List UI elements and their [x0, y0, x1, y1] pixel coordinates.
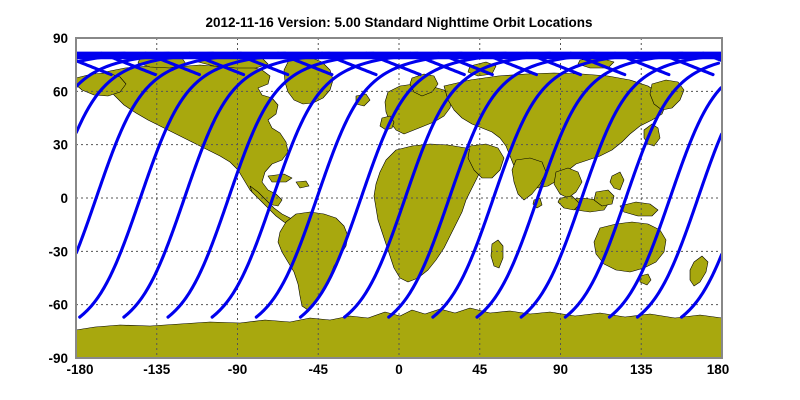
- chart-title: 2012-11-16 Version: 5.00 Standard Nightt…: [205, 15, 592, 30]
- y-tick-label: 0: [60, 191, 68, 206]
- y-tick-label: 60: [53, 84, 68, 99]
- x-tick-label: -180: [66, 362, 93, 377]
- x-tick-label: -45: [308, 362, 328, 377]
- x-axis-ticks: -180 -135 -90 -45 0 45 90 135 180: [66, 362, 729, 377]
- x-tick-label: -135: [143, 362, 171, 377]
- x-tick-label: 135: [630, 362, 653, 377]
- y-tick-label: 30: [53, 138, 68, 153]
- plot-area: [76, 38, 722, 358]
- orbit-location-map-figure: 2012-11-16 Version: 5.00 Standard Nightt…: [0, 0, 800, 400]
- x-tick-label: 90: [553, 362, 568, 377]
- y-tick-label: 90: [53, 31, 68, 46]
- x-tick-label: -90: [228, 362, 248, 377]
- x-tick-label: 0: [395, 362, 403, 377]
- y-tick-label: -90: [48, 351, 68, 366]
- y-tick-label: -60: [48, 298, 68, 313]
- x-tick-label: 180: [707, 362, 730, 377]
- y-tick-label: -30: [48, 244, 68, 259]
- x-tick-label: 45: [472, 362, 488, 377]
